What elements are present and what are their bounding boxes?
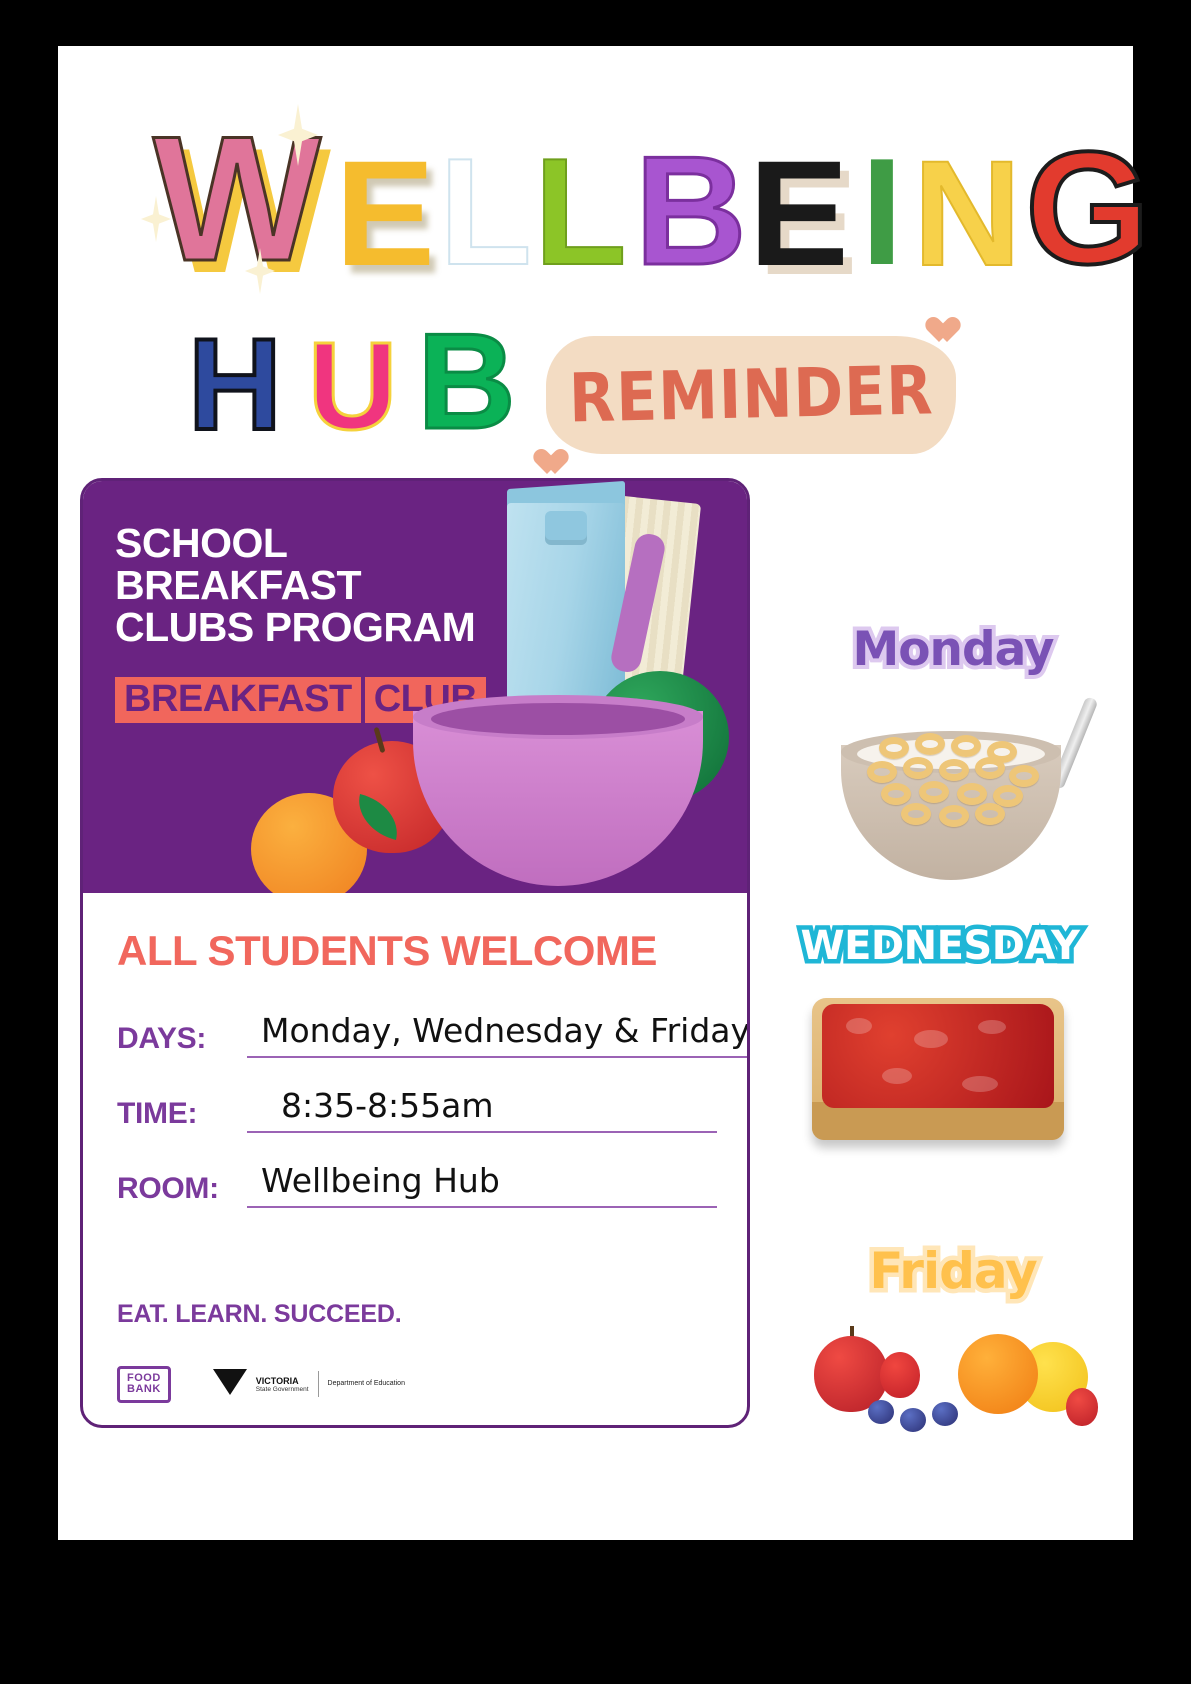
cereal-ring <box>951 735 981 757</box>
blueberry-art <box>868 1400 894 1424</box>
cereal-ring <box>867 761 897 783</box>
title-letter-l2: L <box>534 136 627 288</box>
heart-icon <box>932 318 962 346</box>
field-time: TIME: 8:35-8:55am <box>117 1086 717 1133</box>
title-letter-e2: E <box>749 138 849 288</box>
cereal-ring <box>903 757 933 779</box>
cereal-ring <box>939 759 969 781</box>
blueberry-art <box>900 1408 926 1432</box>
day-block-monday: Monday <box>803 626 1103 897</box>
victoria-triangle-icon <box>213 1367 247 1401</box>
title-letter-u: U <box>308 325 398 449</box>
title-letter-l1: L <box>439 136 532 288</box>
breakfast-club-flyer: SCHOOL BREAKFAST CLUBS PROGRAM BREAKFAST… <box>80 478 750 1428</box>
cereal-ring <box>975 803 1005 825</box>
field-room: ROOM: Wellbeing Hub <box>117 1161 717 1208</box>
day-block-friday: Friday <box>803 1246 1103 1448</box>
foodbank-logo-line-2: BANK <box>127 1384 161 1396</box>
flyer-title: SCHOOL BREAKFAST CLUBS PROGRAM <box>115 523 475 648</box>
cereal-ring <box>901 803 931 825</box>
title-letter-h: H <box>188 319 282 449</box>
field-value-time[interactable]: 8:35-8:55am <box>247 1086 717 1133</box>
victoria-wordmark: VICTORIA State Government <box>256 1376 309 1394</box>
banner-breakfast: BREAKFAST <box>115 677 361 723</box>
flyer-body: ALL STUDENTS WELCOME DAYS: Monday, Wedne… <box>83 893 747 1425</box>
jam-highlight <box>978 1020 1006 1034</box>
department-label: Department of Education <box>328 1380 405 1389</box>
field-value-room[interactable]: Wellbeing Hub <box>247 1161 717 1208</box>
field-label-room: ROOM: <box>117 1172 247 1208</box>
cereal-ring <box>915 733 945 755</box>
title-letter-e1: E <box>335 138 435 288</box>
field-label-time: TIME: <box>117 1097 247 1133</box>
poster-title-hub: H U B <box>188 314 608 449</box>
logo-divider <box>318 1371 319 1397</box>
reminder-badge: REMINDER <box>546 336 956 454</box>
milk-cap-art <box>545 511 587 545</box>
poster-page: W E L L B E I N G H U B REMINDER <box>58 46 1133 1540</box>
title-letter-b2: B <box>417 313 515 449</box>
title-letter-b: B <box>635 133 747 288</box>
title-letter-i: I <box>861 136 903 288</box>
flyer-title-line-1: SCHOOL <box>115 523 475 565</box>
cereal-ring <box>939 805 969 827</box>
bowl-inner-art <box>431 703 685 735</box>
victoria-subtitle: State Government <box>256 1386 309 1393</box>
victoria-government-logo: VICTORIA State Government Department of … <box>213 1367 405 1401</box>
jam-highlight <box>882 1068 912 1084</box>
cereal-ring <box>881 783 911 805</box>
flyer-logos: FOOD BANK VICTORIA State Government Depa… <box>117 1366 405 1403</box>
jam-highlight <box>846 1018 872 1034</box>
title-letter-g: G <box>1025 128 1149 288</box>
victoria-name: VICTORIA <box>256 1376 309 1386</box>
field-days: DAYS: Monday, Wednesday & Friday <box>117 1011 717 1058</box>
jam-spread-art <box>822 1004 1054 1108</box>
triangle-shape <box>213 1369 247 1395</box>
blueberry-art <box>932 1402 958 1426</box>
cereal-ring <box>879 737 909 759</box>
day-label-monday: Monday <box>803 626 1103 673</box>
fresh-fruit-icon <box>808 1308 1098 1448</box>
jam-highlight <box>914 1030 948 1048</box>
cereal-ring <box>1009 765 1039 787</box>
jam-toast-icon <box>806 982 1074 1154</box>
reminder-label: REMINDER <box>568 352 934 439</box>
foodbank-logo: FOOD BANK <box>117 1366 171 1403</box>
jam-highlight <box>962 1076 998 1092</box>
title-letter-n: N <box>913 138 1021 288</box>
heart-icon <box>540 450 570 478</box>
day-label-friday: Friday <box>803 1246 1103 1296</box>
strawberry-art <box>880 1352 920 1398</box>
cereal-ring <box>975 757 1005 779</box>
field-label-days: DAYS: <box>117 1022 247 1058</box>
day-block-wednesday: WEDNESDAY <box>790 926 1090 1154</box>
flyer-title-line-3: CLUBS PROGRAM <box>115 607 475 649</box>
cereal-ring <box>957 783 987 805</box>
day-label-wednesday: WEDNESDAY <box>790 926 1090 966</box>
strawberry-art <box>1066 1388 1098 1426</box>
flyer-hero: SCHOOL BREAKFAST CLUBS PROGRAM BREAKFAST… <box>83 481 747 893</box>
flyer-title-line-2: BREAKFAST <box>115 565 475 607</box>
flyer-tagline: EAT. LEARN. SUCCEED. <box>117 1300 401 1329</box>
orange-art <box>958 1334 1038 1414</box>
all-students-welcome: ALL STUDENTS WELCOME <box>117 927 717 975</box>
cereal-bowl-icon <box>823 687 1083 897</box>
poster-title-wellbeing: W E L L B E I N G <box>153 108 1053 288</box>
cereal-ring <box>919 781 949 803</box>
field-value-days[interactable]: Monday, Wednesday & Friday <box>247 1011 750 1058</box>
